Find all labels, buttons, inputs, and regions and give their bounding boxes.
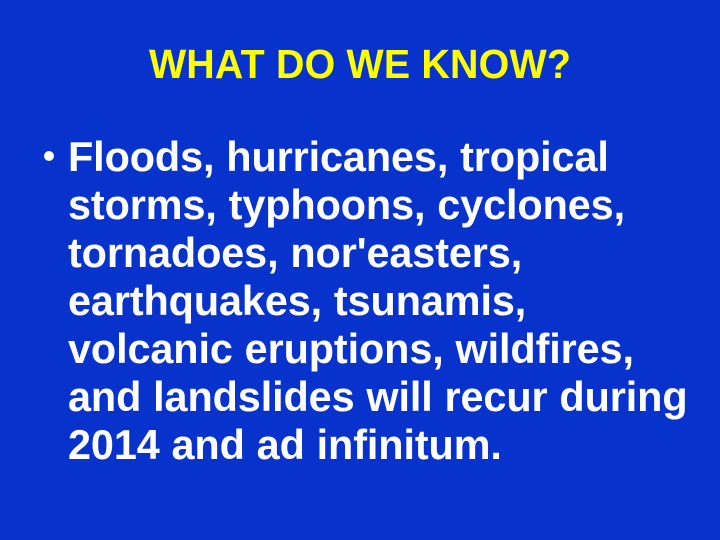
round-bullet-icon <box>44 151 54 161</box>
presentation-slide: WHAT DO WE KNOW? Floods, hurricanes, tro… <box>0 0 720 540</box>
slide-body: Floods, hurricanes, tropical storms, typ… <box>0 133 720 469</box>
list-item-text: Floods, hurricanes, tropical storms, typ… <box>68 133 698 469</box>
page-title: WHAT DO WE KNOW? <box>14 42 705 86</box>
list-item: Floods, hurricanes, tropical storms, typ… <box>0 133 720 469</box>
